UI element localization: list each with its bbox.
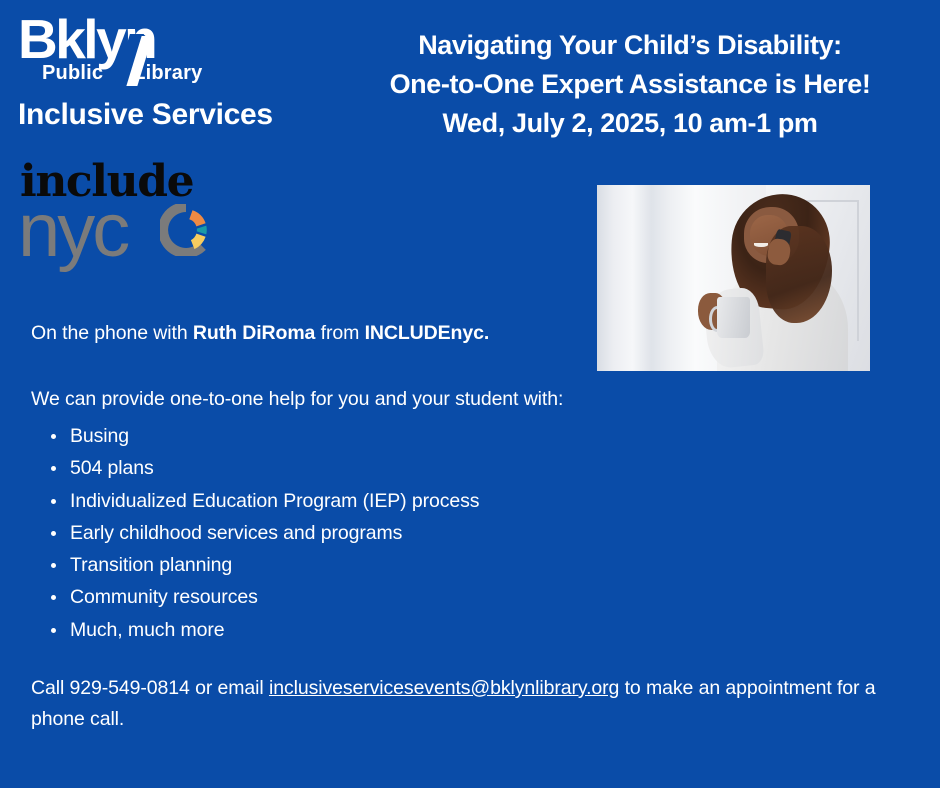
- includenyc-logo: include nyc: [20, 160, 210, 275]
- bklyn-public-library-logo: Bklyn PublicLibrary: [18, 14, 230, 90]
- list-item: Busing: [31, 420, 479, 452]
- photo-caption: On the phone with Ruth DiRoma from INCLU…: [31, 320, 489, 346]
- flyer-canvas: Bklyn PublicLibrary Inclusive Services i…: [0, 0, 940, 788]
- event-photo: [597, 185, 870, 371]
- services-list: Busing 504 plans Individualized Educatio…: [31, 420, 479, 646]
- caption-middle: from: [315, 322, 364, 344]
- photo-coffee-mug: [717, 297, 750, 338]
- caption-person-name: Ruth DiRoma: [193, 322, 315, 344]
- list-item: Transition planning: [31, 549, 479, 581]
- footer-email-prefix: or email: [190, 677, 269, 699]
- brand-block: Bklyn PublicLibrary Inclusive Services: [18, 14, 358, 132]
- event-headline: Navigating Your Child’s Disability: One-…: [330, 26, 930, 143]
- contact-footer: Call 929-549-0814 or email inclusiveserv…: [31, 673, 891, 735]
- headline-line-1: Navigating Your Child’s Disability:: [330, 26, 930, 65]
- phone-number[interactable]: 929-549-0814: [70, 677, 190, 699]
- list-item: Much, much more: [31, 614, 479, 646]
- photo-wall-edge: [857, 200, 859, 341]
- list-item: Individualized Education Program (IEP) p…: [31, 485, 479, 517]
- email-link[interactable]: inclusiveservicesevents@bklynlibrary.org: [269, 677, 619, 699]
- list-item: 504 plans: [31, 452, 479, 484]
- includenyc-ring-icon: [160, 204, 212, 256]
- list-item: Community resources: [31, 581, 479, 613]
- includenyc-nyc-text: nyc: [18, 193, 127, 269]
- logo-sub-public: Public: [42, 62, 103, 84]
- headline-line-3: Wed, July 2, 2025, 10 am-1 pm: [330, 104, 930, 143]
- headline-line-2: One-to-One Expert Assistance is Here!: [330, 65, 930, 104]
- services-intro: We can provide one-to-one help for you a…: [31, 386, 563, 412]
- footer-call-prefix: Call: [31, 677, 70, 699]
- photo-person-smile: [754, 243, 768, 247]
- caption-organization: INCLUDEnyc.: [365, 322, 490, 344]
- list-item: Early childhood services and programs: [31, 517, 479, 549]
- logo-sub-library: Library: [133, 62, 202, 84]
- department-title: Inclusive Services: [18, 98, 358, 132]
- bklyn-logo-subtitle: PublicLibrary: [42, 63, 202, 83]
- caption-prefix: On the phone with: [31, 322, 193, 344]
